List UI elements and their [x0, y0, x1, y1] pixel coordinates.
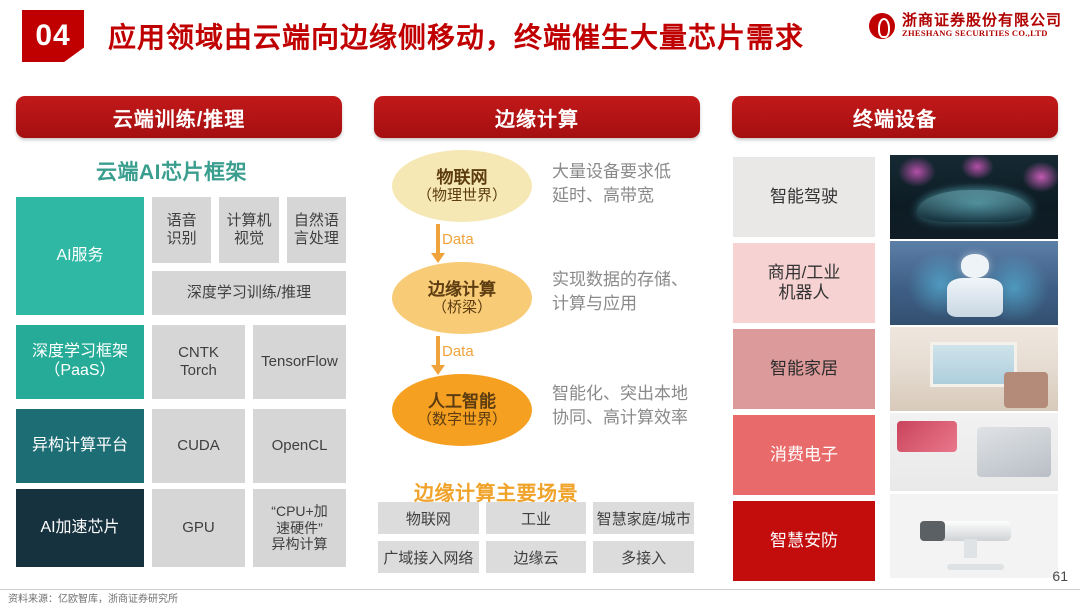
security-camera-photo-content	[890, 494, 1058, 578]
autonomous-car-photo-content	[890, 155, 1058, 239]
autonomous-car-photo	[890, 155, 1058, 239]
terminal-device-label: 消费电子	[733, 415, 875, 495]
camera-mount	[964, 539, 977, 557]
terminal-devices-list: 智能驾驶商用/工业机器人智能家居消费电子智慧安防	[0, 0, 1080, 608]
consumer-electronics-photo	[890, 413, 1058, 491]
source-note: 资料来源：亿欧智库，浙商证券研究所	[8, 590, 178, 605]
smart-home-photo	[890, 327, 1058, 411]
terminal-device-label: 智慧安防	[733, 501, 875, 581]
terminal-device-label: 智能驾驶	[733, 157, 875, 237]
camera-base	[947, 564, 1004, 570]
terminal-device-label: 商用/工业机器人	[733, 243, 875, 323]
terminal-device-label: 智能家居	[733, 329, 875, 409]
slide-canvas: 04 应用领域由云端向边缘侧移动，终端催生大量芯片需求 浙商证券股份有限公司 Z…	[0, 0, 1080, 608]
page-number: 61	[1052, 568, 1068, 584]
security-camera-photo	[890, 494, 1058, 578]
smart-home-photo-content	[890, 327, 1058, 411]
industrial-robot-photo	[890, 241, 1058, 325]
industrial-robot-photo-content	[890, 241, 1058, 325]
consumer-electronics-photo-content	[890, 413, 1058, 491]
